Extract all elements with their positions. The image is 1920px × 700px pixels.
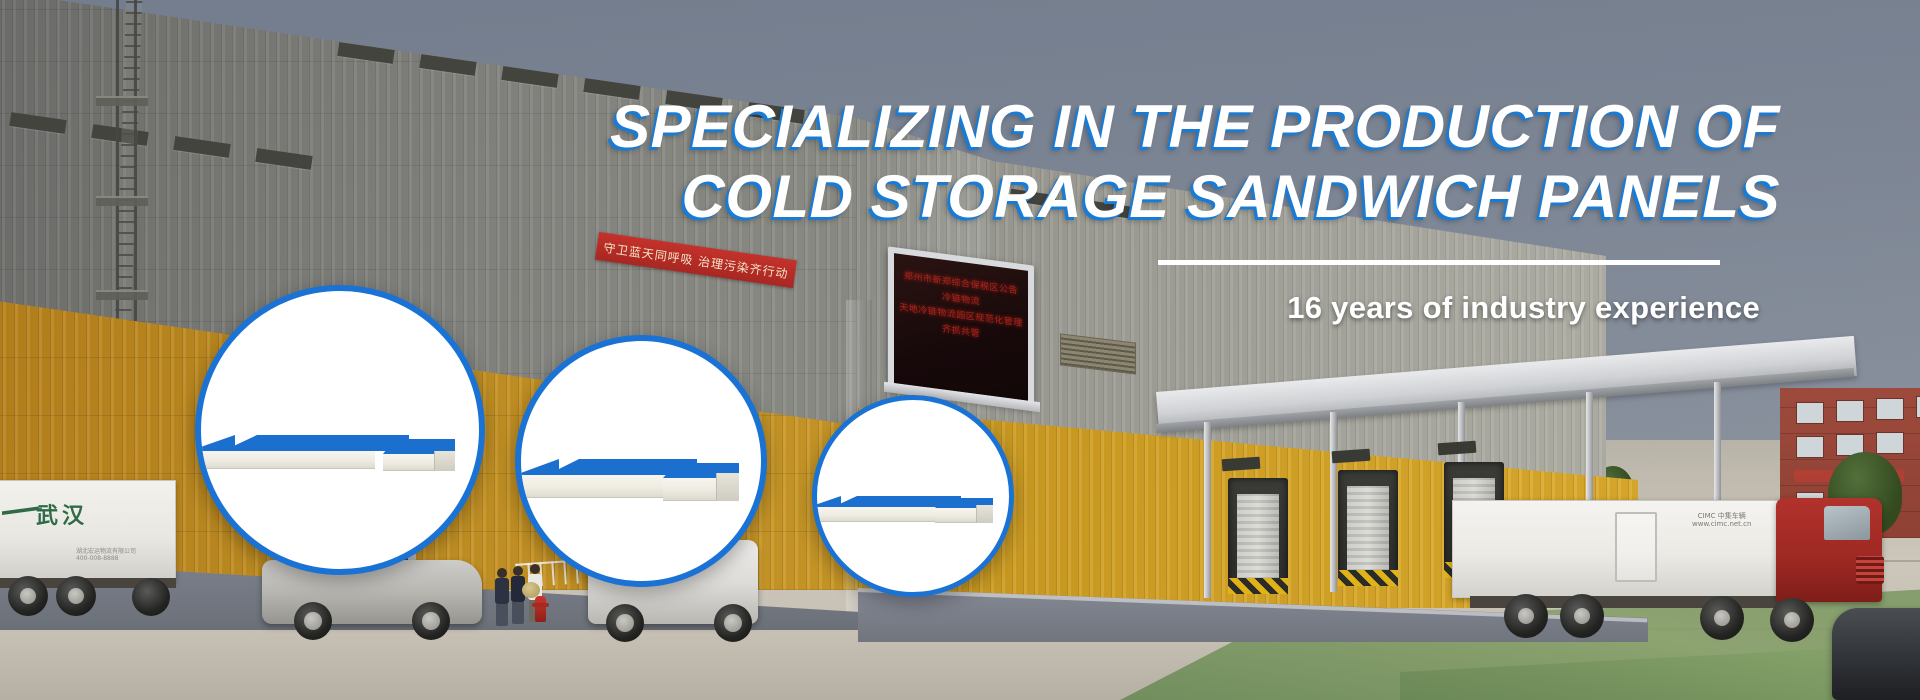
dock-bay[interactable]: [1228, 478, 1288, 594]
truck-cab-window: [1824, 506, 1870, 540]
car-wheel-hub: [304, 612, 322, 630]
dock-bay[interactable]: [1338, 470, 1398, 586]
left-truck-city-text: 武汉: [36, 498, 88, 530]
sandwich-panel-short: [663, 463, 739, 507]
brick-window: [1796, 402, 1824, 424]
panel-illustration: [521, 341, 761, 581]
left-truck-fineprint: 湖北宏运物流有限公司400-008-8888: [76, 548, 136, 562]
canopy-post: [1204, 422, 1211, 598]
person-legs: [512, 602, 524, 624]
subheadline: 16 years of industry experience: [0, 290, 1760, 326]
fire-hydrant: [535, 596, 546, 622]
trailer-side-door: [1615, 512, 1657, 582]
person-legs: [496, 604, 508, 626]
truck-wheel-hub: [1784, 612, 1800, 628]
panel-illustration: [201, 291, 479, 569]
sandwich-panel-long: [195, 435, 375, 475]
left-box-truck: [0, 480, 176, 582]
brick-window: [1876, 398, 1904, 420]
van-wheel-hub: [616, 614, 634, 632]
van-wheel-hub: [724, 614, 742, 632]
panel-callout-1[interactable]: [195, 285, 485, 575]
panel-callout-2[interactable]: [515, 335, 767, 587]
led-display: 郑州市新郑综合保税区公告 冷链物流 天地冷链物流园区规范化管理 齐抓共管: [888, 246, 1034, 407]
sandwich-panel-short: [935, 498, 993, 528]
sandwich-panel-long: [812, 496, 937, 526]
headline: SPECIALIZING IN THE PRODUCTION OF COLD S…: [0, 92, 1780, 232]
canopy-post: [1330, 412, 1337, 592]
brick-window: [1876, 432, 1904, 454]
truck-wheel-hub: [1518, 608, 1534, 624]
hero-banner: 守卫蓝天同呼吸 治理污染齐行动 郑州市新郑综合保税区公告 冷链物流 天地冷链物流…: [0, 0, 1920, 700]
truck-wheel-hub: [68, 588, 84, 604]
person-head: [497, 568, 507, 578]
sandwich-panel-short: [383, 439, 455, 477]
car-wheel-hub: [422, 612, 440, 630]
trailer-brand-text: CIMC 中集车辆www.cimc.net.cn: [1692, 512, 1751, 528]
truck-wheel-hub: [1574, 608, 1590, 624]
person-torso: [495, 578, 509, 604]
truck-wheel-hub: [20, 588, 36, 604]
brick-window: [1836, 400, 1864, 422]
truck-grille: [1856, 556, 1884, 584]
led-screen: 郑州市新郑综合保税区公告 冷链物流 天地冷链物流园区规范化管理 齐抓共管: [894, 253, 1028, 401]
dock-hazard-stripe: [1228, 578, 1288, 594]
person: [495, 568, 509, 626]
truck-wheel: [132, 578, 170, 616]
headline-line-1: SPECIALIZING IN THE PRODUCTION OF: [610, 93, 1780, 160]
brick-window: [1916, 396, 1920, 418]
dock-hazard-stripe: [1338, 570, 1398, 586]
brick-window: [1796, 436, 1824, 458]
headline-line-2: COLD STORAGE SANDWICH PANELS: [0, 162, 1780, 232]
truck-wheel-hub: [1714, 610, 1730, 626]
panel-illustration: [817, 400, 1009, 592]
headline-divider: [1158, 260, 1720, 265]
panel-callout-3[interactable]: [812, 395, 1014, 597]
parked-dark-car: [1832, 608, 1920, 700]
sandwich-panel-long: [515, 459, 665, 499]
